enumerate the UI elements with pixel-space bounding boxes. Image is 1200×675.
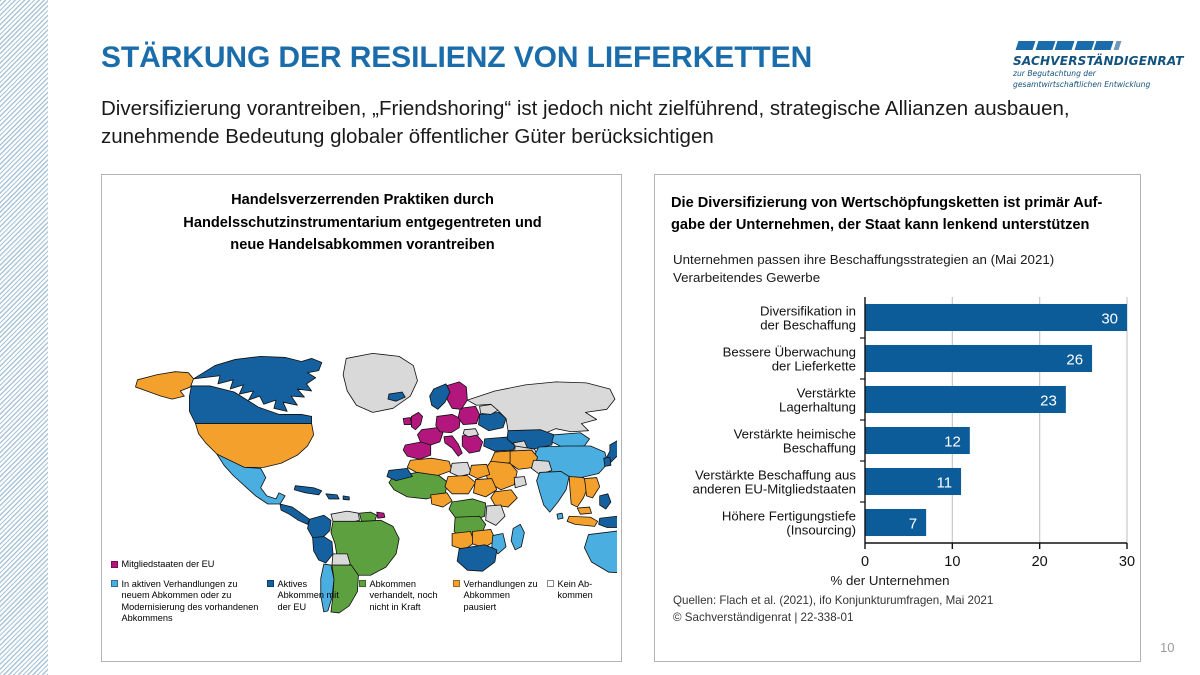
country-greenland: [343, 353, 417, 412]
logo-subline-2: gesamtwirtschaftlichen Entwicklung: [1013, 80, 1153, 90]
country-italy: [444, 436, 462, 456]
chart-panel: Die Diversifizierung von Wertschöpfungsk…: [654, 174, 1141, 662]
chart-bars: 30262312117: [865, 304, 1127, 536]
legend-item-eu: Mitgliedstaaten der EU: [111, 559, 341, 571]
logo-bars-icon: [1017, 41, 1153, 50]
chart-sources: Quellen: Flach et al. (2021), ifo Konjun…: [673, 593, 1123, 626]
map-caption-line-1: Handelsverzerrenden Praktiken durch: [102, 189, 623, 212]
country-indonesia-east: [599, 516, 617, 527]
country-madagascar: [511, 524, 524, 549]
country-ukraine: [479, 412, 506, 430]
chart-tick-labels: 0102030: [861, 554, 1135, 570]
country-colombia: [308, 515, 331, 538]
bar-value-label: 23: [1040, 393, 1057, 410]
country-ireland: [403, 417, 411, 424]
country-india: [537, 471, 570, 512]
category-label-line: der Lieferkette: [772, 359, 856, 374]
legend-label-active-negotiations: In aktiven Verhandlungen zu neuem Abkomm…: [122, 579, 262, 625]
country-philippines: [600, 494, 611, 509]
category-label-line: Verstärkte heimische: [734, 427, 856, 442]
page-number: 10: [1160, 640, 1174, 655]
legend-swatch-active-agreement: [267, 580, 274, 587]
chart-gridlines: [952, 297, 1127, 543]
country-suriname-fg: [377, 512, 385, 518]
category-label-line: Verstärkte: [797, 386, 856, 401]
chart-category-labels: Diversifikation inder BeschaffungBessere…: [693, 304, 857, 538]
logo-subline-1: zur Begutachtung der: [1013, 69, 1153, 79]
bar: [865, 345, 1092, 372]
page-subtitle: Diversifizierung vorantreiben, „Friendsh…: [101, 95, 1141, 151]
legend-label-eu: Mitgliedstaaten der EU: [122, 559, 215, 571]
category-label-line: Beschaffung: [783, 441, 856, 456]
country-mongolia: [552, 433, 590, 447]
sources-line-2: © Sachverständigenrat | 22-338-01: [673, 610, 1123, 627]
chart-x-axis-label: % der Unternehmen: [655, 573, 1125, 588]
country-cuba: [294, 486, 321, 495]
chart-panel-title-line-2: gabe der Unternehmen, der Staat kann len…: [671, 214, 1126, 236]
country-indonesia-west: [567, 516, 598, 526]
map-caption: Handelsverzerrenden Praktiken durch Hand…: [102, 189, 623, 257]
country-korea: [604, 457, 611, 466]
logo-name: SACHVERSTÄNDIGENRAT: [1013, 54, 1153, 68]
country-iberia: [403, 442, 430, 459]
country-nigeria: [431, 493, 452, 507]
x-tick-label: 20: [1032, 554, 1048, 570]
bar: [865, 386, 1066, 413]
x-tick-label: 10: [944, 554, 960, 570]
legend-swatch-active-negotiations: [111, 580, 118, 587]
bar-value-label: 11: [936, 475, 952, 492]
map-caption-line-3: neue Handelsabkommen vorantreiben: [102, 234, 623, 257]
bar-value-label: 30: [1101, 311, 1118, 328]
category-label-line: Diversifikation in: [760, 304, 856, 319]
legend-item-negotiated-not-in-force: Abkommen verhandelt, noch nicht in Kraft: [359, 579, 447, 614]
country-alaska: [135, 372, 193, 399]
legend-item-no-agreement: Kein Ab-kommen: [547, 579, 599, 602]
x-tick-label: 0: [861, 554, 869, 570]
bar-chart: 30262312117 Diversifikation inder Bescha…: [665, 293, 1135, 573]
country-vietnam-laos: [584, 478, 599, 498]
bar-value-label: 26: [1066, 352, 1083, 369]
legend-label-negotiated-not-in-force: Abkommen verhandelt, noch nicht in Kraft: [370, 579, 448, 614]
country-germany-central-eu: [436, 414, 460, 432]
sachverstaendigenrat-logo: SACHVERSTÄNDIGENRAT zur Begutachtung der…: [1013, 41, 1153, 89]
country-balkans-eu: [462, 435, 482, 453]
chart-subtitle-line-1: Unternehmen passen ihre Beschaffungsstra…: [673, 251, 1133, 269]
legend-swatch-eu: [111, 561, 118, 568]
country-puerto-rico: [343, 496, 349, 500]
legend-swatch-no-agreement: [547, 580, 554, 587]
page-title: STÄRKUNG DER RESILIENZ VON LIEFERKETTEN: [101, 41, 812, 75]
country-balkans-non-eu: [463, 429, 478, 437]
map-caption-line-2: Handelsschutzinstrumentarium entgegentre…: [102, 212, 623, 235]
country-central-america: [280, 504, 310, 524]
legend-label-paused: Verhandlungen zu Abkommen pausiert: [464, 579, 542, 614]
category-label-line: Verstärkte Beschaffung aus: [695, 468, 856, 483]
country-malaysia: [577, 507, 591, 514]
category-label-line: der Beschaffung: [760, 318, 856, 333]
category-label-line: Höhere Fertigungstiefe: [722, 509, 856, 524]
category-label-line: Bessere Überwachung: [723, 345, 856, 360]
country-usa: [196, 424, 314, 468]
chart-subtitle: Unternehmen passen ihre Beschaffungsstra…: [673, 251, 1133, 286]
legend-label-no-agreement: Kein Ab-kommen: [558, 579, 600, 602]
decorative-stripe: [0, 0, 48, 675]
legend-item-paused: Verhandlungen zu Abkommen pausiert: [453, 579, 541, 614]
chart-subtitle-line-2: Verarbeitendes Gewerbe: [673, 269, 1133, 287]
bar-value-label: 12: [944, 434, 961, 451]
category-label-line: Lagerhaltung: [779, 400, 856, 415]
chart-panel-title: Die Diversifizierung von Wertschöpfungsk…: [671, 192, 1126, 236]
country-scandinavia-eu: [446, 382, 467, 409]
legend-item-active-agreement: Aktives Abkommen mit der EU: [267, 579, 353, 614]
country-kenya-tanzania: [486, 505, 505, 525]
country-canada: [189, 356, 321, 425]
country-guyanas: [359, 512, 376, 521]
country-united-kingdom: [411, 412, 422, 429]
country-yemen-oman: [514, 477, 526, 488]
bar: [865, 304, 1127, 331]
country-hispaniola: [326, 494, 339, 499]
decorative-stripe-fade: [48, 0, 58, 675]
x-tick-label: 30: [1119, 554, 1135, 570]
category-label-line: (Insourcing): [786, 523, 856, 538]
country-sri-lanka: [557, 513, 563, 519]
map-panel: Handelsverzerrenden Praktiken durch Hand…: [101, 174, 622, 662]
country-libya: [450, 462, 471, 476]
bar-value-label: 7: [909, 516, 917, 533]
legend-swatch-paused: [453, 580, 460, 587]
category-label-line: anderen EU-Mitgliedstaaten: [693, 482, 856, 497]
legend-label-active-agreement: Aktives Abkommen mit der EU: [278, 579, 354, 614]
sources-line-1: Quellen: Flach et al. (2021), ifo Konjun…: [673, 593, 1123, 610]
legend-item-active-negotiations: In aktiven Verhandlungen zu neuem Abkomm…: [111, 579, 261, 625]
country-ethiopia-horn: [491, 490, 517, 507]
country-norway: [430, 384, 450, 409]
bar-chart-svg: 30262312117 Diversifikation inder Bescha…: [665, 293, 1135, 573]
country-niger-chad: [445, 476, 476, 494]
map-legend: Mitgliedstaaten der EU In aktiven Verhan…: [111, 559, 616, 625]
chart-panel-title-line-1: Die Diversifizierung von Wertschöpfungsk…: [671, 192, 1126, 214]
legend-swatch-negotiated-not-in-force: [359, 580, 366, 587]
